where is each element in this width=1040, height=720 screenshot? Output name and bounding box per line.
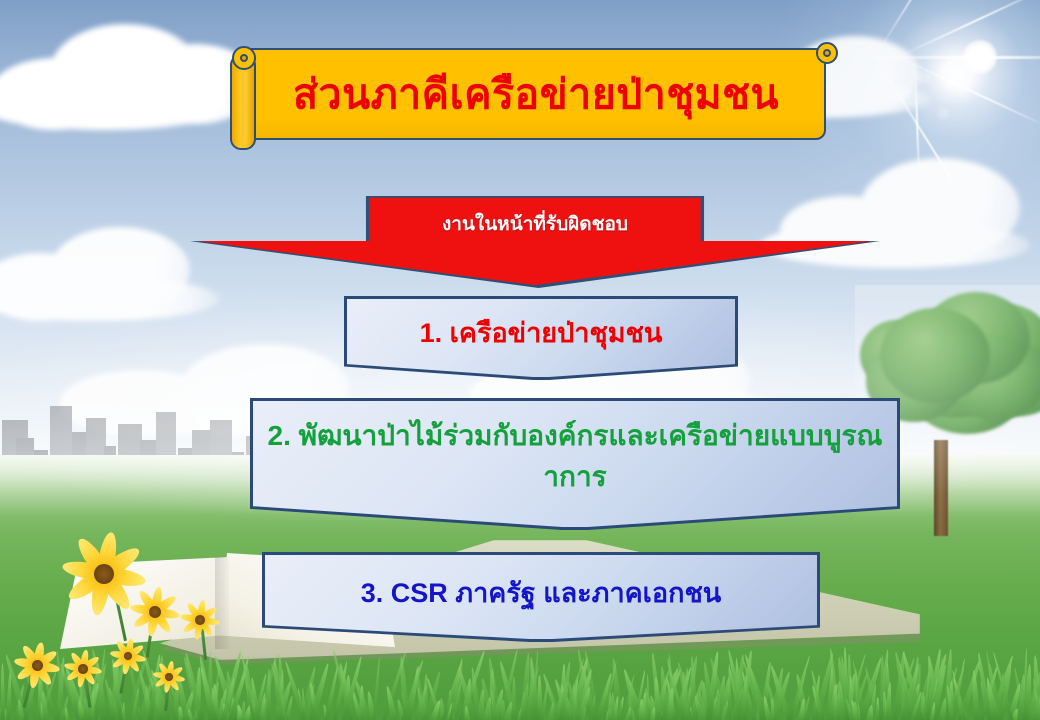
page-title: ส่วนภาคีเครือข่ายป่าชุมชน bbox=[293, 74, 779, 115]
down-arrow-banner: งานในหน้าที่รับผิดชอบ bbox=[190, 196, 880, 288]
scroll-curl-left-icon bbox=[232, 46, 256, 70]
title-banner: ส่วนภาคีเครือข่ายป่าชุมชน bbox=[224, 40, 842, 152]
content-box-1[interactable]: 1. เครือข่ายป่าชุมชน bbox=[344, 296, 738, 380]
content-box-3-label: 3. CSR ภาครัฐ และภาคเอกชน bbox=[262, 574, 820, 613]
title-banner-body: ส่วนภาคีเครือข่ายป่าชุมชน bbox=[246, 48, 826, 140]
content-box-2[interactable]: 2. พัฒนาป่าไม้ร่วมกับองค์กรและเครือข่ายแ… bbox=[250, 398, 900, 530]
content-box-2-label: 2. พัฒนาป่าไม้ร่วมกับองค์กรและเครือข่ายแ… bbox=[250, 416, 900, 497]
arrow-shape-icon bbox=[190, 196, 880, 286]
presentation-slide: ส่วนภาคีเครือข่ายป่าชุมชน งานในหน้าที่รั… bbox=[0, 0, 1040, 720]
content-box-1-label: 1. เครือข่ายป่าชุมชน bbox=[344, 314, 738, 353]
slide-content: ส่วนภาคีเครือข่ายป่าชุมชน งานในหน้าที่รั… bbox=[0, 0, 1040, 720]
arrow-label: งานในหน้าที่รับผิดชอบ bbox=[190, 214, 880, 237]
scroll-curl-right-icon bbox=[816, 42, 838, 64]
content-box-3[interactable]: 3. CSR ภาครัฐ และภาคเอกชน bbox=[262, 552, 820, 642]
